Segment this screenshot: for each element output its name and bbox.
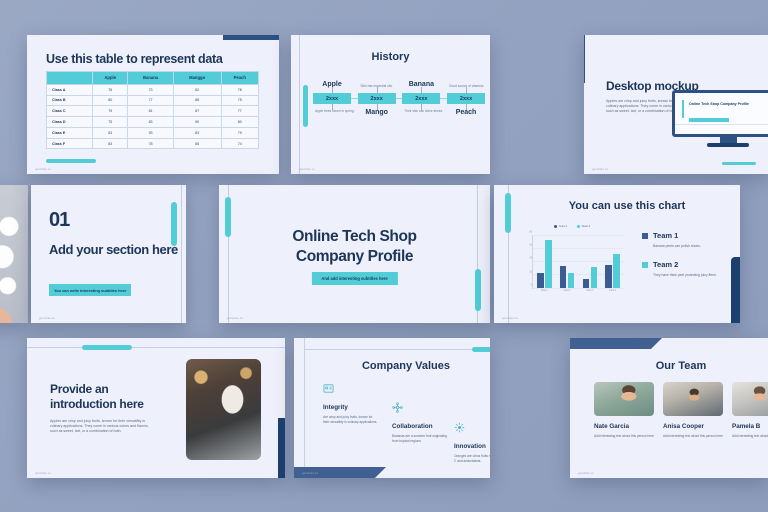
- table-cell: 77: [221, 106, 258, 117]
- slide-title: History: [291, 51, 490, 63]
- table-cell: 85: [173, 138, 221, 149]
- timeline-node[interactable]: Apple2xxxApple trees bloom in spring.: [313, 93, 351, 104]
- watermark: getslides.co: [35, 168, 51, 171]
- bar-chart: Team 1Team 2 020406080 Data 1Data 2Data …: [522, 227, 624, 299]
- table-row-label: Class D: [47, 117, 93, 128]
- member-description: Add interesting text about this person h…: [732, 434, 768, 439]
- teal-pill-accent: [303, 85, 308, 127]
- guide-line: [304, 338, 305, 478]
- screen-divider: [675, 124, 768, 125]
- top-divider: [304, 349, 490, 350]
- slide-section-divider[interactable]: 01 Add your section here You can write i…: [31, 185, 186, 323]
- team-legend-list: Team 1Banana peels can polish shoes.Team…: [642, 231, 730, 289]
- chart-legend: Team 1Team 2: [554, 225, 590, 228]
- timeline-name: Mango: [365, 109, 388, 116]
- monitor-base: [707, 143, 749, 147]
- table-row: Class F83788574: [47, 138, 259, 149]
- timeline: Apple2xxxApple trees bloom in spring.Ski…: [313, 93, 485, 104]
- teal-pill-accent-right: [475, 269, 481, 311]
- timeline-stem: [466, 87, 467, 93]
- table-cell: 79: [221, 127, 258, 138]
- chart-bar[interactable]: [605, 265, 612, 288]
- value-name: Innovation: [454, 443, 490, 450]
- chart-bar[interactable]: [568, 273, 575, 289]
- cover-subtitle: And add interesting subtitles here: [311, 272, 397, 285]
- table-header-row: AppleBananaManggoPeach: [47, 72, 259, 85]
- chart-bar-group: [537, 240, 552, 288]
- photo-placeholder: [0, 185, 28, 323]
- table-cell: 83: [93, 127, 128, 138]
- screen-title: Online Tech Shop Company Profile: [689, 102, 749, 107]
- table-cell: 75: [221, 95, 258, 106]
- slide-title: Provide an introduction here: [50, 382, 160, 412]
- timeline-year: 2xxx: [402, 93, 440, 104]
- chart-y-tick: 60: [529, 243, 532, 246]
- navy-accent-wedge: [731, 257, 740, 323]
- chart-x-tick: Data 2: [564, 289, 571, 292]
- table-col-header: Manggo: [173, 72, 221, 85]
- data-table: AppleBananaManggoPeach Class A76738278Cl…: [46, 71, 259, 149]
- teal-pill-accent: [472, 347, 490, 352]
- table-cell: 90: [173, 117, 221, 128]
- timeline-stem: [332, 87, 333, 93]
- chart-bar[interactable]: [537, 273, 544, 289]
- value-description: Bananas are a summer fruit originating f…: [392, 434, 448, 444]
- watermark: getslides.co: [502, 317, 518, 320]
- table-row-label: Class F: [47, 138, 93, 149]
- idea-burst-icon: [454, 420, 465, 437]
- slide-title: Company Values: [330, 360, 482, 372]
- timeline-note: Their skin can shine shoes.: [404, 109, 438, 113]
- chart-x-tick: Data 1: [541, 289, 548, 292]
- timeline-year: 2xxx: [447, 93, 485, 104]
- slide-our-team[interactable]: Our Team Nate GarciaAdd interesting text…: [570, 338, 768, 478]
- chart-x-tick-labels: Data 1Data 2Data 3Data 4: [533, 289, 624, 292]
- chart-y-tick: 20: [529, 270, 532, 273]
- table-cell: 73: [128, 84, 173, 95]
- teal-accent: [682, 100, 684, 118]
- section-title: Add your section here: [49, 242, 178, 258]
- table-cell: 93: [128, 127, 173, 138]
- cover-title: Online Tech Shop Company Profile: [219, 227, 490, 267]
- table-col-header: Apple: [93, 72, 128, 85]
- slide-title: Our Team: [594, 360, 768, 372]
- table-row: Class D75839080: [47, 117, 259, 128]
- value-name: Integrity: [323, 404, 379, 411]
- table-row-label: Class C: [47, 106, 93, 117]
- table-cell: 79: [93, 106, 128, 117]
- teal-pill-accent: [505, 193, 511, 233]
- color-swatch: [642, 262, 648, 268]
- watermark: getslides.co: [39, 317, 55, 320]
- teal-pill-accent: [722, 162, 756, 166]
- table-cell: 80: [221, 117, 258, 128]
- table-cell: 83: [93, 138, 128, 149]
- table-cell: 82: [173, 84, 221, 95]
- navy-accent-bar: [223, 35, 279, 40]
- team-name: Team 1: [653, 231, 678, 240]
- screen-button: [689, 118, 729, 122]
- value-description: Oranges are citrus fruits rich in vitami…: [454, 454, 490, 464]
- table-row-label: Class E: [47, 127, 93, 138]
- navy-accent-wedge: [584, 35, 585, 83]
- teal-pill-accent: [46, 159, 96, 163]
- chart-y-tick: 0: [531, 284, 532, 287]
- intro-photo: [186, 359, 261, 460]
- value-column[interactable]: InnovationOranges are citrus fruits rich…: [454, 420, 490, 464]
- slide-chart[interactable]: You can use this chart Team 1Team 2 0204…: [494, 185, 740, 323]
- slide-company-values[interactable]: Company Values IntegrityAre crisp and ju…: [294, 338, 490, 478]
- chart-bar[interactable]: [591, 267, 598, 288]
- avatar: [663, 382, 723, 416]
- table-cell: 76: [93, 84, 128, 95]
- slide-desktop-mockup[interactable]: Desktop mockup Apples are crisp and juic…: [584, 35, 768, 174]
- slide-body: Apples are crisp and juicy fruits, known…: [50, 419, 154, 435]
- member-description: Add interesting text about this person h…: [663, 434, 723, 439]
- timeline-year: 2xxx: [313, 93, 351, 104]
- value-column[interactable]: CollaborationBananas are a summer fruit …: [392, 400, 448, 444]
- table-row: Class A76738278: [47, 84, 259, 95]
- table-cell: 80: [93, 95, 128, 106]
- watermark: getslides.co: [592, 168, 608, 171]
- table-col-header: Peach: [221, 72, 258, 85]
- value-name: Collaboration: [392, 423, 448, 430]
- timeline-node[interactable]: Skin has essential oils.2xxxMango: [358, 93, 396, 104]
- monitor-screen: Online Tech Shop Company Profile: [672, 90, 768, 137]
- presentation-mockup-stage: Use this table to represent data AppleBa…: [0, 0, 768, 512]
- slide-history[interactable]: History Apple2xxxApple trees bloom in sp…: [291, 35, 490, 174]
- chart-bar-group: [605, 254, 620, 288]
- table-cell: 78: [128, 138, 173, 149]
- table-cell: 83: [128, 117, 173, 128]
- color-swatch: [642, 233, 648, 239]
- navy-accent-wedge: [570, 338, 662, 349]
- table-row-label: Class A: [47, 84, 93, 95]
- watermark: getslides.co: [578, 472, 594, 475]
- watermark: getslides.co: [35, 472, 51, 475]
- slide-introduction[interactable]: Provide an introduction here Apples are …: [27, 338, 285, 478]
- chart-bar-group: [560, 266, 575, 288]
- watermark: getslides.co: [299, 168, 315, 171]
- slide-title: You can use this chart: [524, 200, 730, 212]
- chart-x-tick: Data 3: [586, 289, 593, 292]
- team-member-card[interactable]: Nate GarciaAdd interesting text about th…: [594, 382, 654, 439]
- section-subtitle: You can write interesting subtitles here: [49, 284, 131, 296]
- section-number: 01: [49, 209, 69, 232]
- timeline-year: 2xxx: [358, 93, 396, 104]
- timeline-connector: [351, 98, 358, 99]
- timeline-node[interactable]: Good source of vitamins.2xxxPeach: [447, 93, 485, 104]
- table-row: Class C79818777: [47, 106, 259, 117]
- team-card-list: Nate GarciaAdd interesting text about th…: [594, 382, 768, 439]
- chart-bar-group: [583, 267, 598, 288]
- timeline-node[interactable]: Banana2xxxTheir skin can shine shoes.: [402, 93, 440, 104]
- table-cell: 74: [221, 138, 258, 149]
- chart-bar[interactable]: [613, 254, 620, 288]
- chart-bar[interactable]: [560, 266, 567, 288]
- member-name: Anisa Cooper: [663, 423, 723, 430]
- slide-data-table[interactable]: Use this table to represent data AppleBa…: [27, 35, 279, 174]
- team-legend-entry: Team 1Banana peels can polish shoes.: [642, 231, 730, 249]
- timeline-name: Peach: [456, 109, 477, 116]
- table-cell: 75: [93, 117, 128, 128]
- table-col-header: Banana: [128, 72, 173, 85]
- watermark: getslides.co: [227, 317, 243, 320]
- table-cell: 78: [221, 84, 258, 95]
- slide-cover-title[interactable]: Online Tech Shop Company Profile And add…: [219, 185, 490, 323]
- slide-title: Use this table to represent data: [46, 52, 223, 66]
- chart-legend-item: Team 2: [577, 225, 591, 228]
- table-cell: 88: [173, 95, 221, 106]
- value-column[interactable]: IntegrityAre crisp and juicy fruits, kno…: [323, 381, 379, 425]
- avatar: [732, 382, 768, 416]
- timeline-connector: [396, 98, 403, 99]
- navy-accent-wedge: [278, 418, 285, 478]
- chart-y-tick: 80: [529, 230, 532, 233]
- member-name: Pamela B: [732, 423, 768, 430]
- team-description: They have thick peel protecting juicy fl…: [653, 273, 721, 278]
- team-name: Team 2: [653, 260, 678, 269]
- chart-bar[interactable]: [583, 279, 590, 288]
- chart-bar-groups: [533, 235, 624, 288]
- avatar: [594, 382, 654, 416]
- timeline-stem: [377, 87, 378, 93]
- guide-line: [181, 185, 182, 323]
- teal-pill-accent: [171, 202, 177, 246]
- team-member-card[interactable]: Pamela BAdd interesting text about this …: [732, 382, 768, 439]
- chart-legend-item: Team 1: [554, 225, 568, 228]
- chart-bar[interactable]: [545, 240, 552, 288]
- timeline-note: Apple trees bloom in spring.: [315, 109, 349, 113]
- team-legend-entry: Team 2They have thick peel protecting ju…: [642, 260, 730, 278]
- chart-y-tick: 40: [529, 257, 532, 260]
- table-cell: 81: [128, 106, 173, 117]
- network-icon: [392, 400, 403, 417]
- chart-plot-area: 020406080 Data 1Data 2Data 3Data 4: [532, 235, 624, 289]
- chart-x-tick: Data 4: [609, 289, 616, 292]
- table-row-label: Class B: [47, 95, 93, 106]
- teal-pill-accent: [82, 345, 132, 350]
- table-cell: 83: [173, 127, 221, 138]
- table-cell: 77: [128, 95, 173, 106]
- monitor-illustration: Online Tech Shop Company Profile: [672, 90, 768, 147]
- watermark: getslides.co: [302, 472, 318, 475]
- slide-partial-left[interactable]: [0, 185, 28, 323]
- table-row: Class B80778875: [47, 95, 259, 106]
- team-member-card[interactable]: Anisa CooperAdd interesting text about t…: [663, 382, 723, 439]
- timeline-connector: [440, 98, 447, 99]
- table-col-header: [47, 72, 93, 85]
- team-description: Banana peels can polish shoes.: [653, 244, 721, 249]
- table-row: Class E83938379: [47, 127, 259, 138]
- table-cell: 87: [173, 106, 221, 117]
- id-card-icon: [323, 381, 334, 398]
- guide-line: [27, 347, 285, 348]
- member-name: Nate Garcia: [594, 423, 654, 430]
- value-description: Are crisp and juicy fruits, known for th…: [323, 415, 379, 425]
- timeline-stem: [421, 87, 422, 93]
- member-description: Add interesting text about this person h…: [594, 434, 654, 439]
